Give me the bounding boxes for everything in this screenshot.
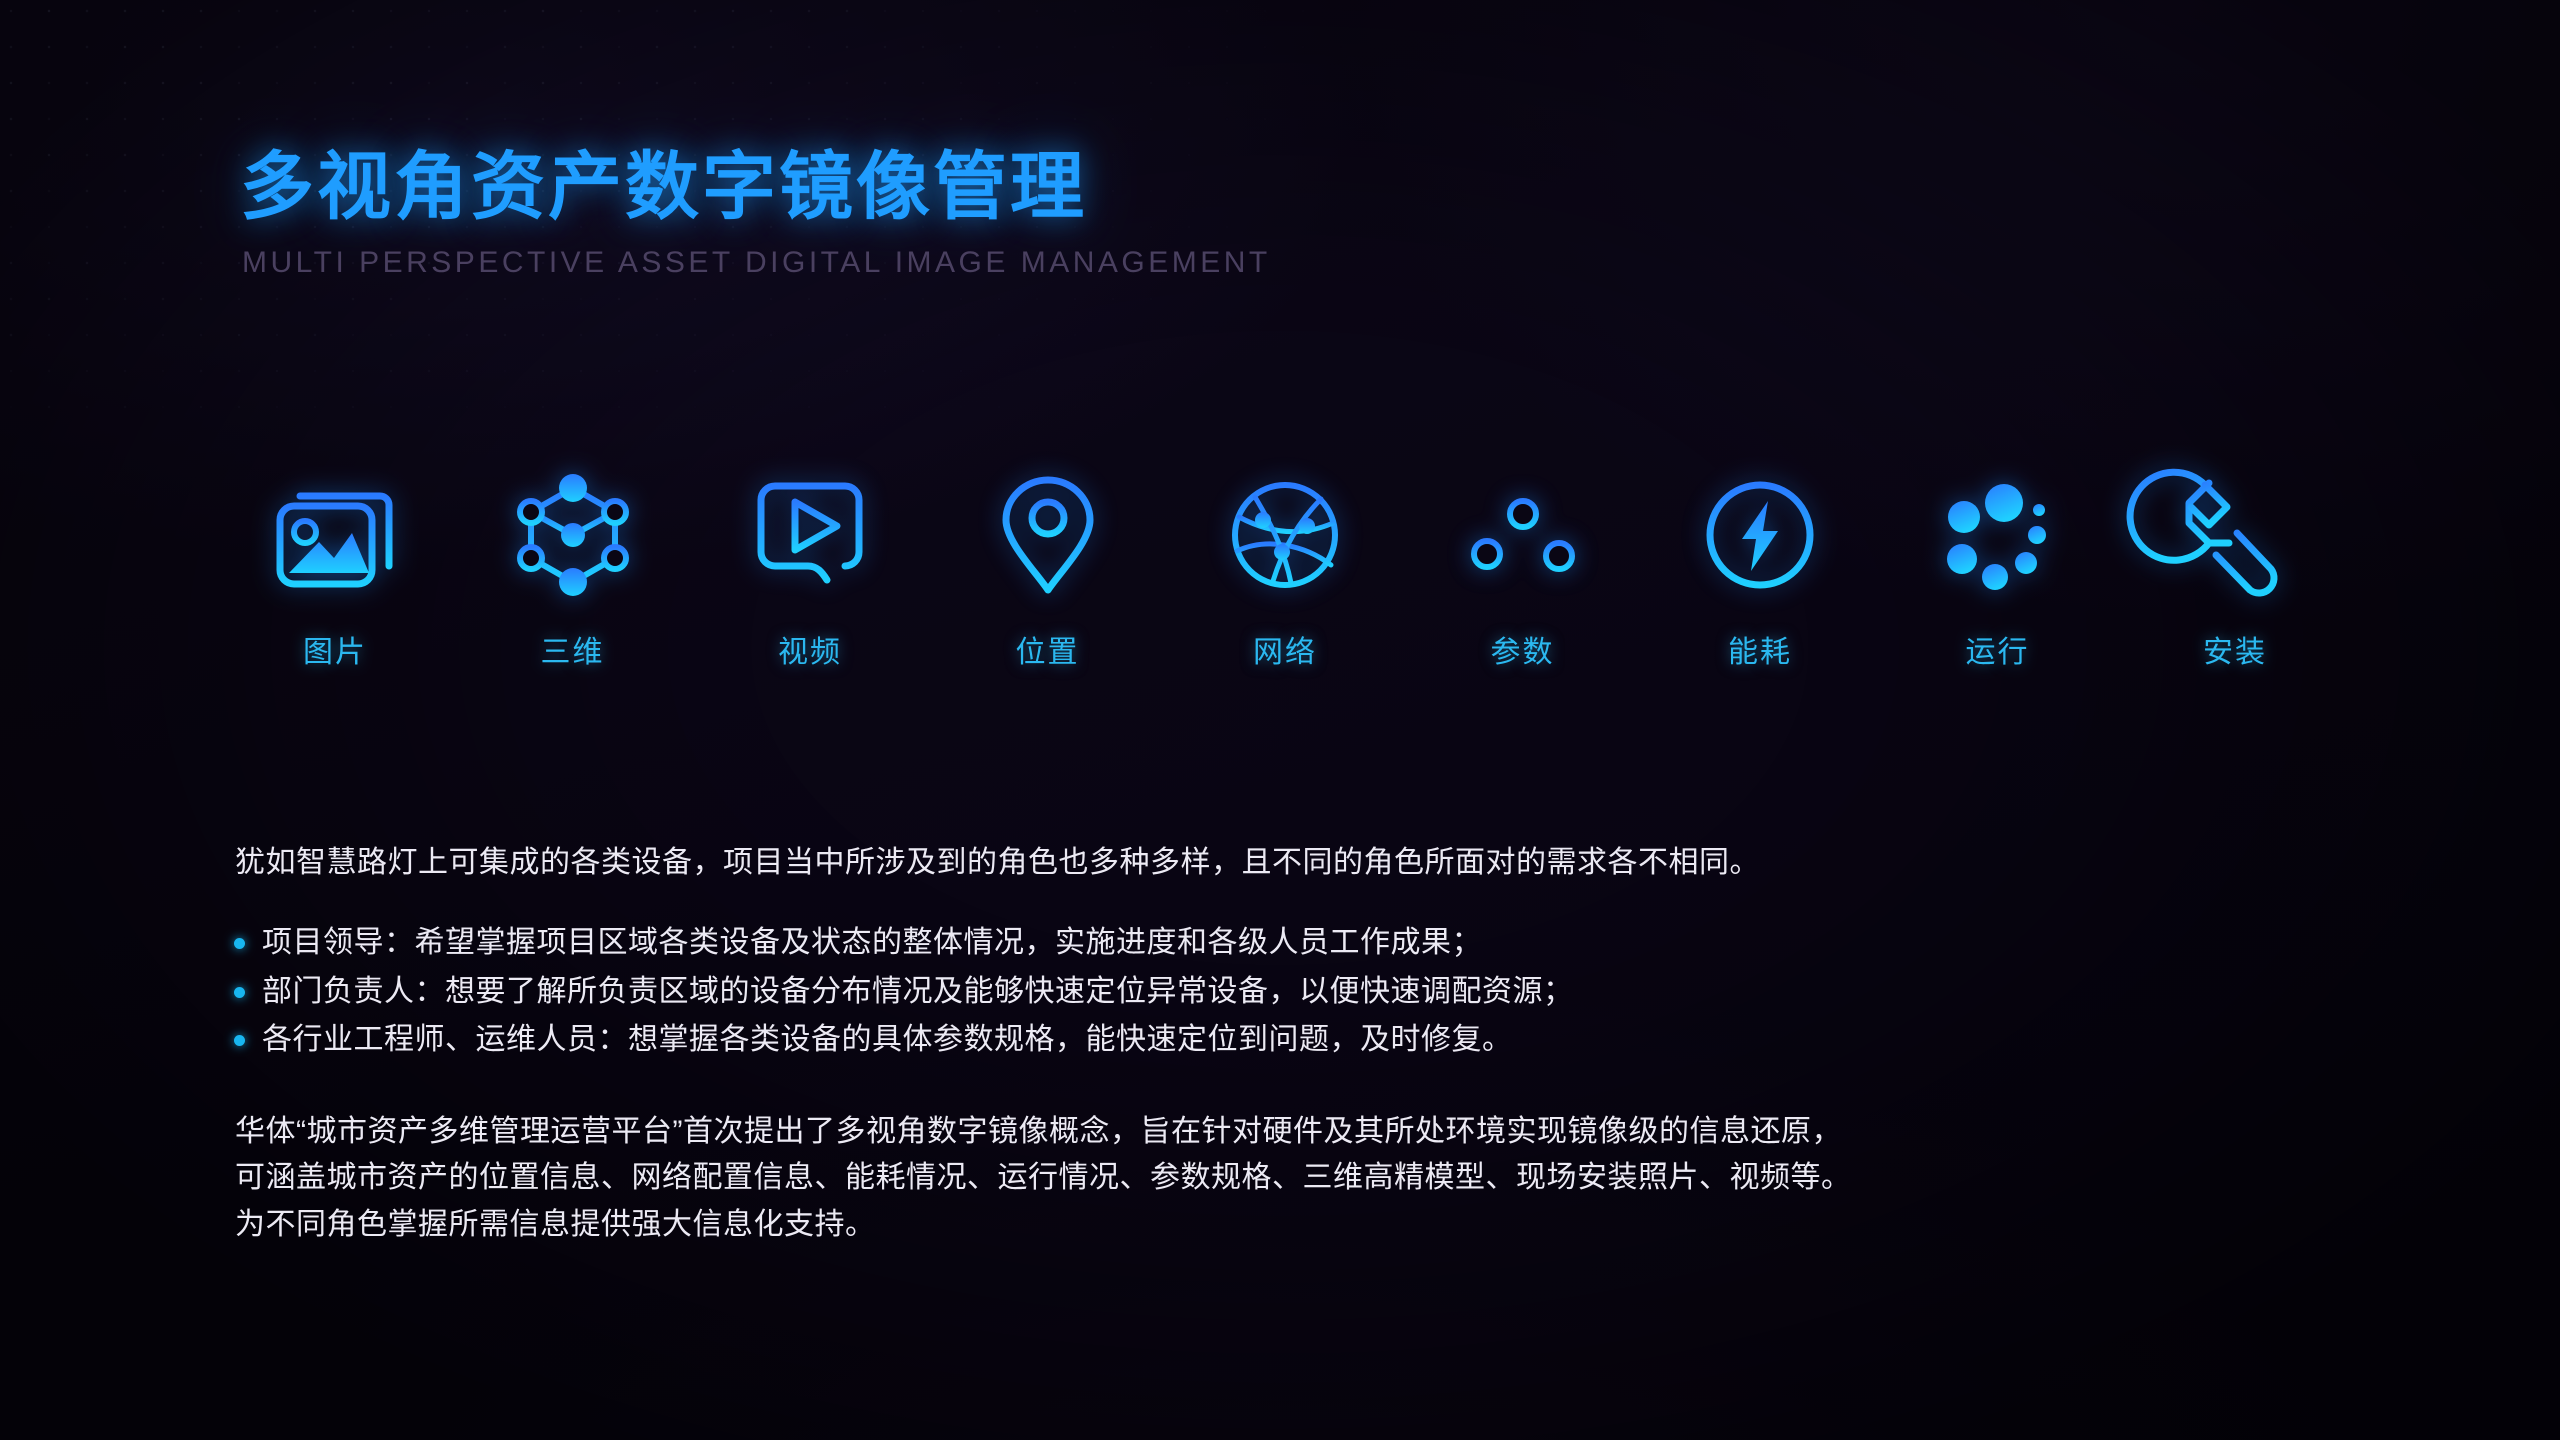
- capability-label: 网络: [1253, 627, 1317, 671]
- capability-label: 图片: [303, 627, 367, 671]
- list-item-text: 项目领导：希望掌握项目区域各类设备及状态的整体情况，实施进度和各级人员工作成果；: [262, 926, 1482, 959]
- capability-item-location[interactable]: 位置: [953, 455, 1143, 671]
- lead-paragraph: 犹如智慧路灯上可集成的各类设备，项目当中所涉及到的角色也多种多样，且不同的角色所…: [235, 840, 2350, 885]
- capability-label: 视频: [778, 627, 842, 671]
- closing-line: 可涵盖城市资产的位置信息、网络配置信息、能耗情况、运行情况、参数规格、三维高精模…: [235, 1155, 2350, 1202]
- loading-dots-icon: [1938, 455, 2058, 615]
- role-requirement-list: 项目领导：希望掌握项目区域各类设备及状态的整体情况，实施进度和各级人员工作成果；…: [230, 919, 2350, 1065]
- page-subtitle: MULTI PERSPECTIVE ASSET DIGITAL IMAGE MA…: [242, 246, 1271, 280]
- page-title: 多视角资产数字镜像管理: [240, 150, 1271, 224]
- list-item: 各行业工程师、运维人员：想掌握各类设备的具体参数规格，能快速定位到问题，及时修复…: [230, 1016, 2350, 1065]
- globe-network-icon: [1225, 455, 1345, 615]
- capability-item-image[interactable]: 图片: [240, 455, 430, 671]
- capability-item-energy[interactable]: 能耗: [1665, 455, 1855, 671]
- capability-item-video[interactable]: 视频: [715, 455, 905, 671]
- sliders-icon: [1463, 455, 1583, 615]
- body-copy: 犹如智慧路灯上可集成的各类设备，项目当中所涉及到的角色也多种多样，且不同的角色所…: [230, 840, 2350, 1248]
- capability-label: 运行: [1966, 627, 2030, 671]
- cube-network-icon: [513, 455, 633, 615]
- capability-label: 参数: [1491, 627, 1555, 671]
- slide-stage: 多视角资产数字镜像管理 MULTI PERSPECTIVE ASSET DIGI…: [0, 0, 2560, 1440]
- closing-line: 为不同角色掌握所需信息提供强大信息化支持。: [235, 1202, 2350, 1249]
- capability-label: 安装: [2203, 627, 2267, 671]
- capability-item-installation[interactable]: 安装: [2140, 455, 2330, 671]
- closing-line: 华体“城市资产多维管理运营平台”首次提出了多视角数字镜像概念，旨在针对硬件及其所…: [235, 1109, 2350, 1156]
- map-pin-icon: [988, 455, 1108, 615]
- capability-item-3d[interactable]: 三维: [478, 455, 668, 671]
- capability-icon-row: 图片: [240, 455, 2330, 671]
- capability-label: 三维: [541, 627, 605, 671]
- capability-label: 能耗: [1728, 627, 1792, 671]
- capability-label: 位置: [1016, 627, 1080, 671]
- image-stack-icon: [275, 455, 395, 615]
- capability-item-network[interactable]: 网络: [1190, 455, 1380, 671]
- bullet-dot-icon: [234, 938, 245, 949]
- bullet-dot-icon: [234, 987, 245, 998]
- list-item: 项目领导：希望掌握项目区域各类设备及状态的整体情况，实施进度和各级人员工作成果；: [230, 919, 2350, 968]
- closing-paragraph: 华体“城市资产多维管理运营平台”首次提出了多视角数字镜像概念，旨在针对硬件及其所…: [235, 1109, 2350, 1249]
- bullet-dot-icon: [234, 1035, 245, 1046]
- video-play-bubble-icon: [750, 455, 870, 615]
- capability-item-parameters[interactable]: 参数: [1428, 455, 1618, 671]
- list-item-text: 部门负责人：想要了解所负责区域的设备分布情况及能够快速定位异常设备，以便快速调配…: [262, 975, 1574, 1008]
- wrench-icon: [2175, 455, 2295, 615]
- list-item-text: 各行业工程师、运维人员：想掌握各类设备的具体参数规格，能快速定位到问题，及时修复…: [262, 1023, 1513, 1056]
- list-item: 部门负责人：想要了解所负责区域的设备分布情况及能够快速定位异常设备，以便快速调配…: [230, 968, 2350, 1017]
- header-block: 多视角资产数字镜像管理 MULTI PERSPECTIVE ASSET DIGI…: [240, 150, 1271, 280]
- capability-item-running[interactable]: 运行: [1903, 455, 2093, 671]
- lightning-circle-icon: [1700, 455, 1820, 615]
